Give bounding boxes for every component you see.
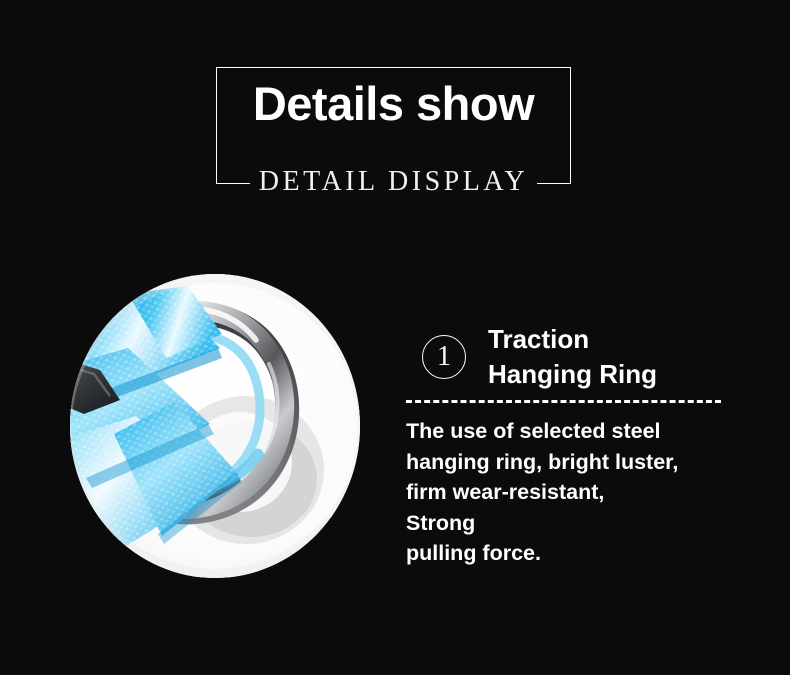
product-photo (70, 274, 360, 578)
detail-display-page: Details show DETAIL DISPLAY (0, 0, 790, 675)
feature-title-line-1: Traction (488, 322, 657, 357)
description-line: pulling force. (406, 538, 736, 569)
feature-title: Traction Hanging Ring (488, 322, 657, 392)
description-line: The use of selected steel (406, 416, 736, 447)
feature-description: The use of selected steel hanging ring, … (406, 416, 736, 569)
page-title: Details show (216, 78, 571, 130)
product-photo-illustration (70, 274, 360, 578)
feature-title-line-2: Hanging Ring (488, 357, 657, 392)
feature-heading: 1 Traction Hanging Ring (406, 318, 736, 396)
divider-dashed (406, 400, 721, 403)
description-line: Strong (406, 508, 736, 539)
feature-number-badge: 1 (422, 335, 466, 379)
description-line: hanging ring, bright luster, (406, 447, 736, 478)
feature-block: 1 Traction Hanging Ring The use of selec… (406, 318, 736, 569)
description-line: firm wear-resistant, (406, 477, 736, 508)
